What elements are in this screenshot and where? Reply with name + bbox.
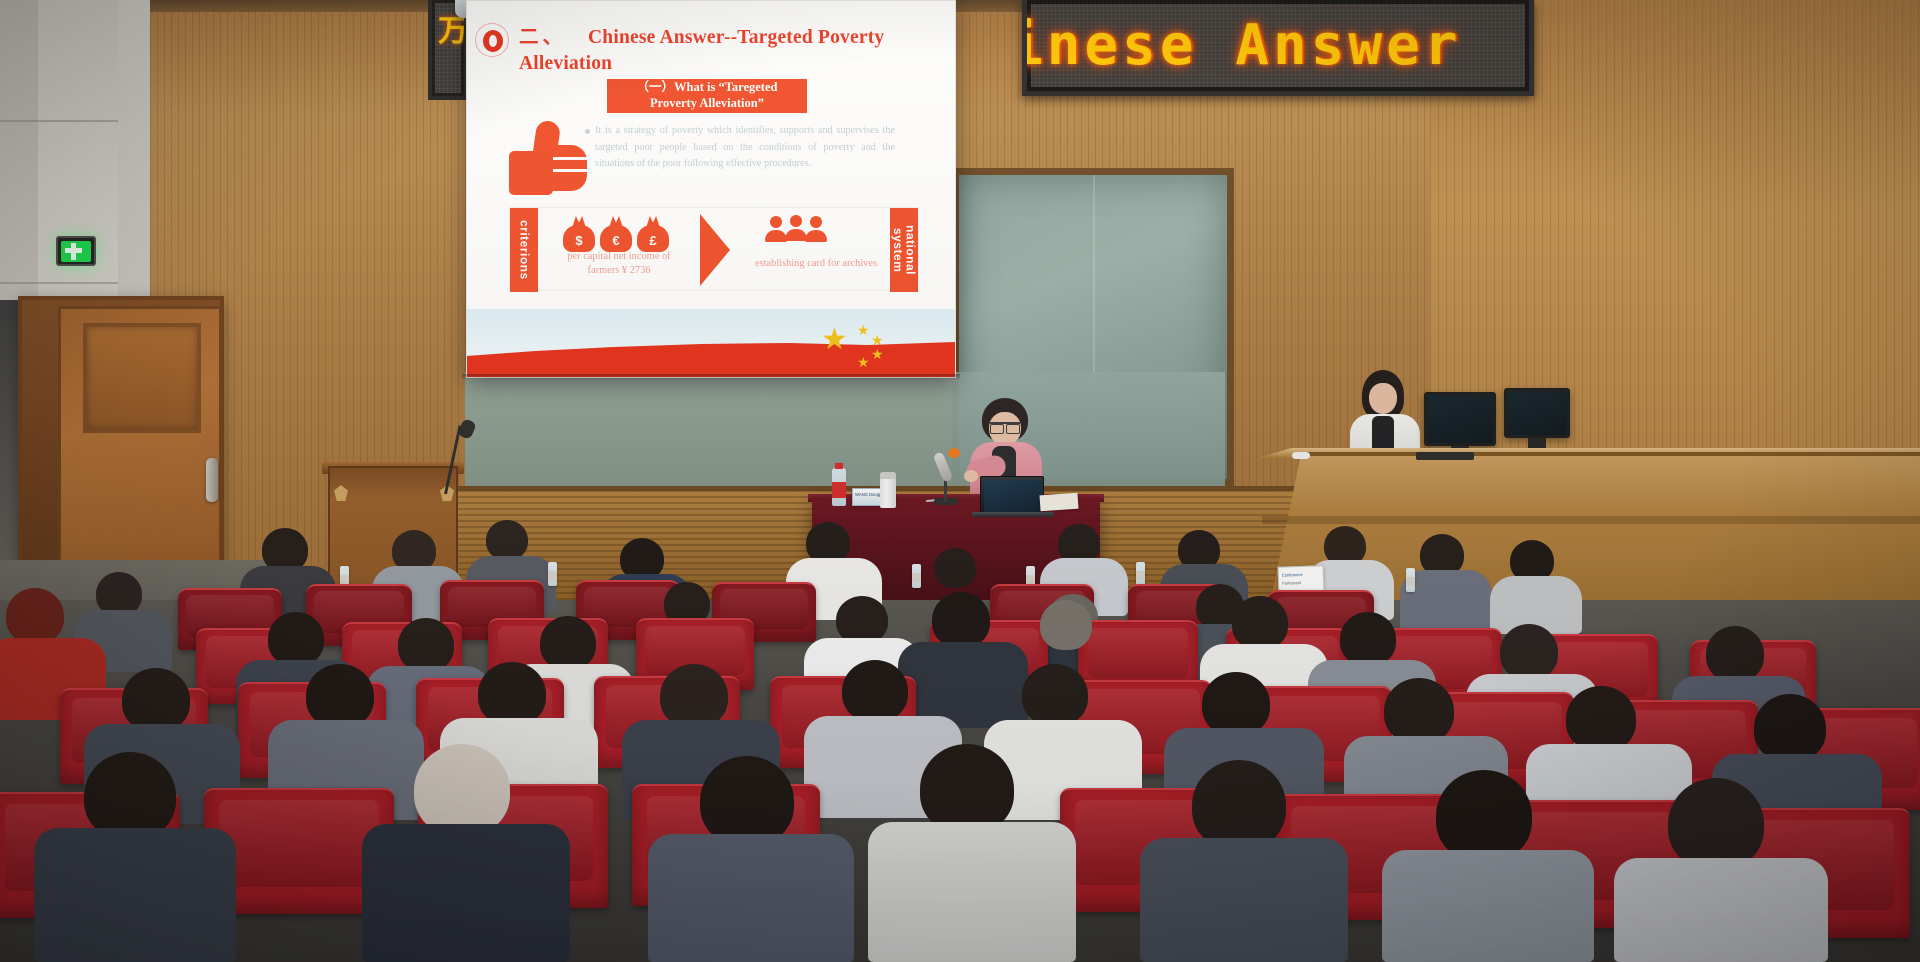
diagram-right-caption: establishing card for archives: [736, 258, 896, 269]
audience-head: [6, 588, 64, 644]
audience-head: [1668, 778, 1764, 870]
keyboard[interactable]: [1416, 452, 1474, 460]
audience-head: [540, 616, 596, 670]
water-bottle: [548, 562, 557, 586]
audience-head: [478, 662, 546, 726]
audience-head: [1022, 664, 1088, 726]
audience-head: [122, 668, 190, 732]
water-bottle: [1406, 568, 1415, 592]
screen-shadow: [462, 374, 960, 380]
audience-torso: [648, 834, 854, 962]
diagram-left-caption-2: farmers ¥ 2736: [588, 265, 651, 276]
audience-head: [932, 592, 990, 648]
currency-symbol: €: [600, 233, 632, 248]
audience-head: [1340, 612, 1396, 666]
bullet-icon: [585, 129, 590, 134]
diagram-left-tab: criterions: [510, 208, 538, 292]
glasses-icon: [990, 422, 1020, 430]
slide-title-cn: 二、: [519, 27, 566, 48]
audience-head: [1566, 686, 1636, 752]
audience-head: [1192, 760, 1286, 850]
presenter-hand: [964, 470, 978, 482]
banner-line-1: （一）What is “Taregeted: [637, 80, 778, 94]
water-bottle: [1136, 562, 1145, 586]
audience-torso: [868, 822, 1076, 962]
standing-sign-line-2: Participant: [1282, 580, 1301, 586]
currency-symbol: £: [637, 233, 669, 248]
audience-head: [1232, 596, 1288, 650]
audience-head: [934, 548, 976, 588]
operator-face: [1369, 383, 1397, 414]
mouse[interactable]: [1292, 452, 1310, 459]
diagram-left-caption-1: per capital net income of: [567, 251, 670, 262]
door-panel-upper: [83, 323, 201, 433]
slide-definition-text: It is a strategy of poverty which identi…: [595, 123, 895, 173]
thermos-cup: [880, 472, 896, 508]
audience-torso: [1140, 838, 1348, 962]
laptop[interactable]: [980, 476, 1044, 514]
wall-seam: [0, 282, 122, 284]
audience-head: [660, 664, 728, 728]
flag-stars-icon: ★ ★ ★ ★ ★: [819, 329, 929, 363]
audience-head: [306, 664, 374, 728]
projection-screen: 二、Chinese Answer--Targeted Poverty Allev…: [466, 0, 956, 378]
operator-top: [1372, 416, 1394, 452]
audience-head: [268, 612, 324, 666]
monitor[interactable]: [1504, 388, 1570, 438]
slide-subtitle-banner: （一）What is “Taregeted Proverty Alleviati…: [607, 79, 807, 113]
audience-head: [1706, 626, 1764, 682]
currency-symbol: $: [563, 233, 595, 248]
audience-torso: [1382, 850, 1594, 962]
audience-head: [1384, 678, 1454, 744]
audience-head: [842, 660, 908, 722]
slide-diagram: criterions $ € £: [509, 207, 919, 291]
monitor[interactable]: [1424, 392, 1496, 446]
money-bag-pound-icon: £: [637, 216, 669, 252]
led-scrolling-sign: inese Answer: [1022, 0, 1534, 96]
led-sign-text: inese Answer: [1022, 13, 1462, 78]
wall-seam: [0, 120, 122, 122]
audience-head: [486, 520, 528, 560]
water-bottle: [832, 468, 846, 506]
audience-head: [84, 752, 176, 840]
audience-head: [920, 744, 1014, 834]
standing-sign: Conference Participant: [1278, 565, 1325, 593]
water-bottle: [912, 564, 921, 588]
emblem-logo: [475, 23, 509, 57]
banner-line-2: Proverty Alleviation”: [650, 96, 764, 110]
diagram-left-tab-label: criterions: [518, 220, 531, 280]
audience-head: [414, 744, 510, 836]
audience-torso: [1614, 858, 1828, 962]
money-bag-euro-icon: €: [600, 216, 632, 252]
presentation-slide: 二、Chinese Answer--Targeted Poverty Allev…: [467, 1, 955, 377]
money-bag-dollar-icon: $: [563, 216, 595, 252]
audience-head: [836, 596, 888, 644]
slide-title-en-2: Alleviation: [519, 53, 612, 74]
slide-title-en-1: Chinese Answer--Targeted Poverty: [588, 27, 884, 48]
people-group-icon: [760, 216, 830, 248]
audience-head: [700, 756, 794, 846]
standing-sign-line-1: Conference: [1282, 572, 1303, 578]
emergency-exit-sign: [56, 236, 96, 266]
audience-head: [1202, 672, 1270, 736]
audience-head: [1500, 624, 1558, 680]
thumbs-up-icon: [509, 121, 585, 197]
papers: [1039, 493, 1078, 512]
audience-torso: [362, 824, 570, 962]
desk-rail: [1262, 516, 1920, 524]
audience-head: [1040, 600, 1092, 650]
diagram-right-tab-label: national system: [891, 208, 916, 292]
laptop-screen: [984, 480, 1042, 512]
money-bag-icons: $ € £: [556, 212, 676, 252]
audience-head: [398, 618, 454, 672]
audience-torso: [34, 828, 236, 962]
microphone-windscreen: [948, 448, 960, 458]
audience-head: [1436, 770, 1532, 862]
diagram-left-caption: per capital net income of farmers ¥ 2736: [546, 250, 692, 277]
audience-head: [1754, 694, 1826, 762]
arrow-right-icon: [700, 214, 730, 286]
diagram-right-tab: national system: [890, 208, 918, 292]
lecture-hall-scene: 万 inese Answer 二、Chinese Answer--Targete…: [0, 0, 1920, 962]
door-handle[interactable]: [206, 458, 218, 502]
laptop-base: [972, 512, 1054, 517]
slide-title: 二、Chinese Answer--Targeted Poverty Allev…: [519, 25, 949, 76]
